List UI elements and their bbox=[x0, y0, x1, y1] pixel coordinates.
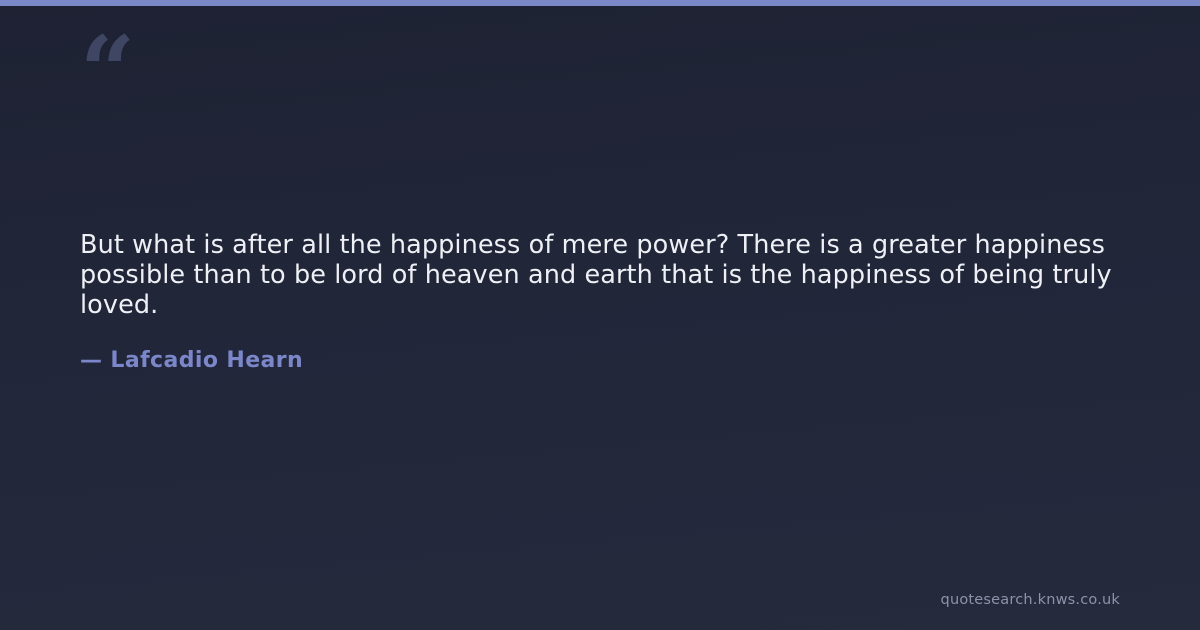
top-accent-bar bbox=[0, 0, 1200, 6]
quote-card: “ But what is after all the happiness of… bbox=[0, 0, 1200, 630]
quote-text: But what is after all the happiness of m… bbox=[80, 230, 1120, 320]
open-quote-icon: “ bbox=[80, 24, 133, 120]
quote-attribution: —Lafcadio Hearn bbox=[80, 348, 1120, 373]
quote-content: But what is after all the happiness of m… bbox=[80, 230, 1120, 373]
author-name: Lafcadio Hearn bbox=[110, 348, 303, 373]
site-watermark: quotesearch.knws.co.uk bbox=[941, 592, 1120, 608]
attribution-dash: — bbox=[80, 348, 102, 373]
